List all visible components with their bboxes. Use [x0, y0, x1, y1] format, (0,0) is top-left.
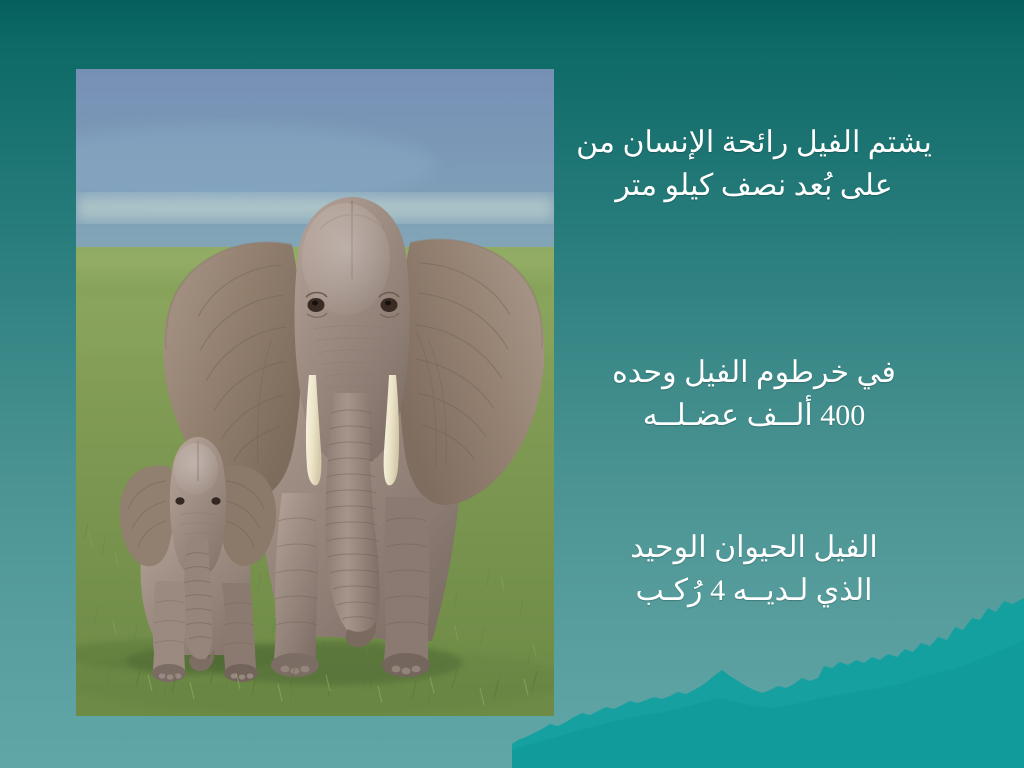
fact-trunk-muscles: في خرطوم الفيل وحده 400 ألــف عضـلــه: [544, 352, 964, 437]
fact-smell-distance: يشتم الفيل رائحة الإنسان من على بُعد نصف…: [544, 122, 964, 207]
fact-four-knees: الفيل الحيوان الوحيد الذي لـديــه 4 رُكـ…: [544, 527, 964, 612]
elephant-photo: [76, 69, 554, 716]
slide-canvas: يشتم الفيل رائحة الإنسان من على بُعد نصف…: [0, 0, 1024, 768]
